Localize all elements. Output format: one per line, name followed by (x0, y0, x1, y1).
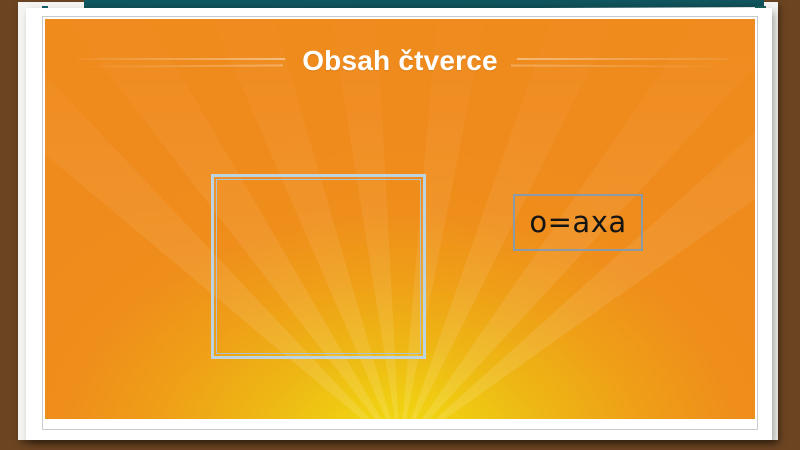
formula-text: o=axa (529, 208, 626, 237)
slide-canvas: Obsah čtverce o=axa (45, 19, 755, 419)
slide-root: Obsah čtverce o=axa (0, 0, 800, 450)
slide-title: Obsah čtverce (45, 41, 755, 81)
square-shape (211, 174, 426, 359)
formula-box: o=axa (513, 194, 643, 251)
title-band: Obsah čtverce (45, 41, 755, 89)
